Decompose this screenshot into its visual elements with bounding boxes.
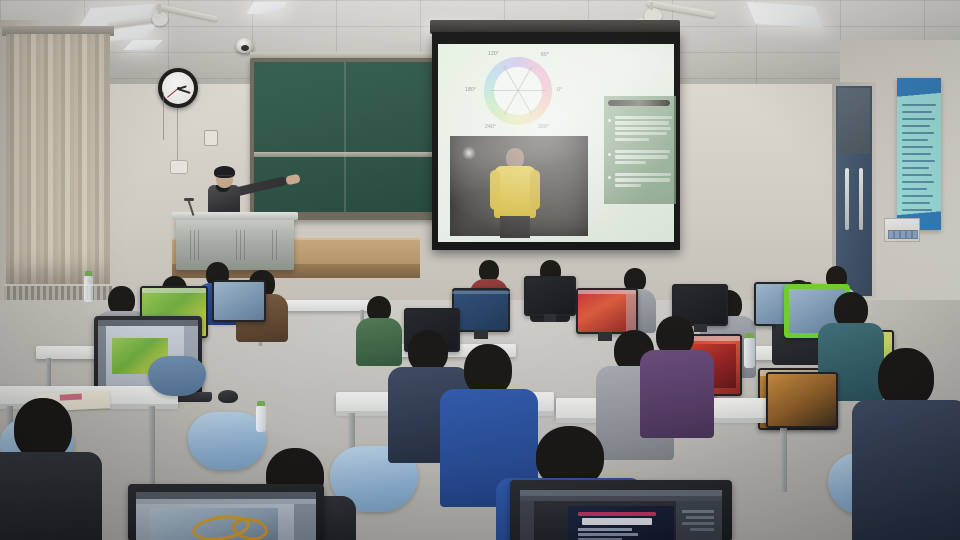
laptop-lid[interactable] <box>128 484 324 540</box>
panel-light-icon <box>247 2 288 14</box>
door-handle[interactable] <box>859 168 863 230</box>
light-switch-panel[interactable] <box>884 218 920 242</box>
chair[interactable] <box>148 356 206 396</box>
chalkboard-chalk-rail <box>254 152 442 157</box>
monitor-stand <box>474 330 488 339</box>
wheel-tick-120: 120° <box>488 51 499 57</box>
water-bottle <box>744 338 755 368</box>
door-glass-panel <box>838 88 870 154</box>
desk-leg <box>148 406 155 484</box>
clock-cord <box>177 108 178 164</box>
wall-cable <box>163 92 164 140</box>
teacher-arm <box>233 176 288 197</box>
wall-socket <box>170 160 188 174</box>
window-curtain <box>6 34 110 284</box>
monitor-stand <box>544 314 556 322</box>
slide-photo-subject <box>492 148 538 236</box>
monitor[interactable] <box>766 372 838 428</box>
classroom-photo: 0° 60° 120° 180° 240° 300° <box>0 0 960 540</box>
wheel-tick-0: 0° <box>557 87 562 93</box>
slide-panel-divider <box>608 100 670 106</box>
water-bottle <box>84 276 93 302</box>
monitor[interactable] <box>576 288 638 334</box>
chalkboard-panel-divider <box>344 62 346 212</box>
laptop-lid[interactable] <box>510 480 732 540</box>
glasses-icon <box>217 175 232 179</box>
student <box>852 348 960 540</box>
wheel-tick-60: 60° <box>541 52 549 58</box>
monitor[interactable] <box>212 280 266 322</box>
wall-outlet <box>204 130 218 146</box>
wall-poster <box>897 78 941 230</box>
door-handle[interactable] <box>845 168 849 230</box>
clock-face <box>162 72 194 104</box>
wheel-tick-180: 180° <box>465 87 476 93</box>
student <box>0 398 102 540</box>
dome-security-camera-icon <box>236 38 254 53</box>
monitor[interactable] <box>452 288 510 332</box>
desk-leg <box>780 420 787 492</box>
microphone-head-icon <box>184 198 194 201</box>
slide-photo-highlight <box>462 146 476 160</box>
teacher-hand <box>285 174 301 186</box>
student <box>640 316 714 434</box>
wheel-tick-240: 240° <box>485 124 496 130</box>
monitor[interactable] <box>524 276 576 316</box>
ceiling-fan-icon <box>108 4 228 38</box>
wheel-tick-300: 300° <box>538 124 549 130</box>
water-bottle <box>256 406 266 432</box>
mouse-icon[interactable] <box>218 390 238 403</box>
